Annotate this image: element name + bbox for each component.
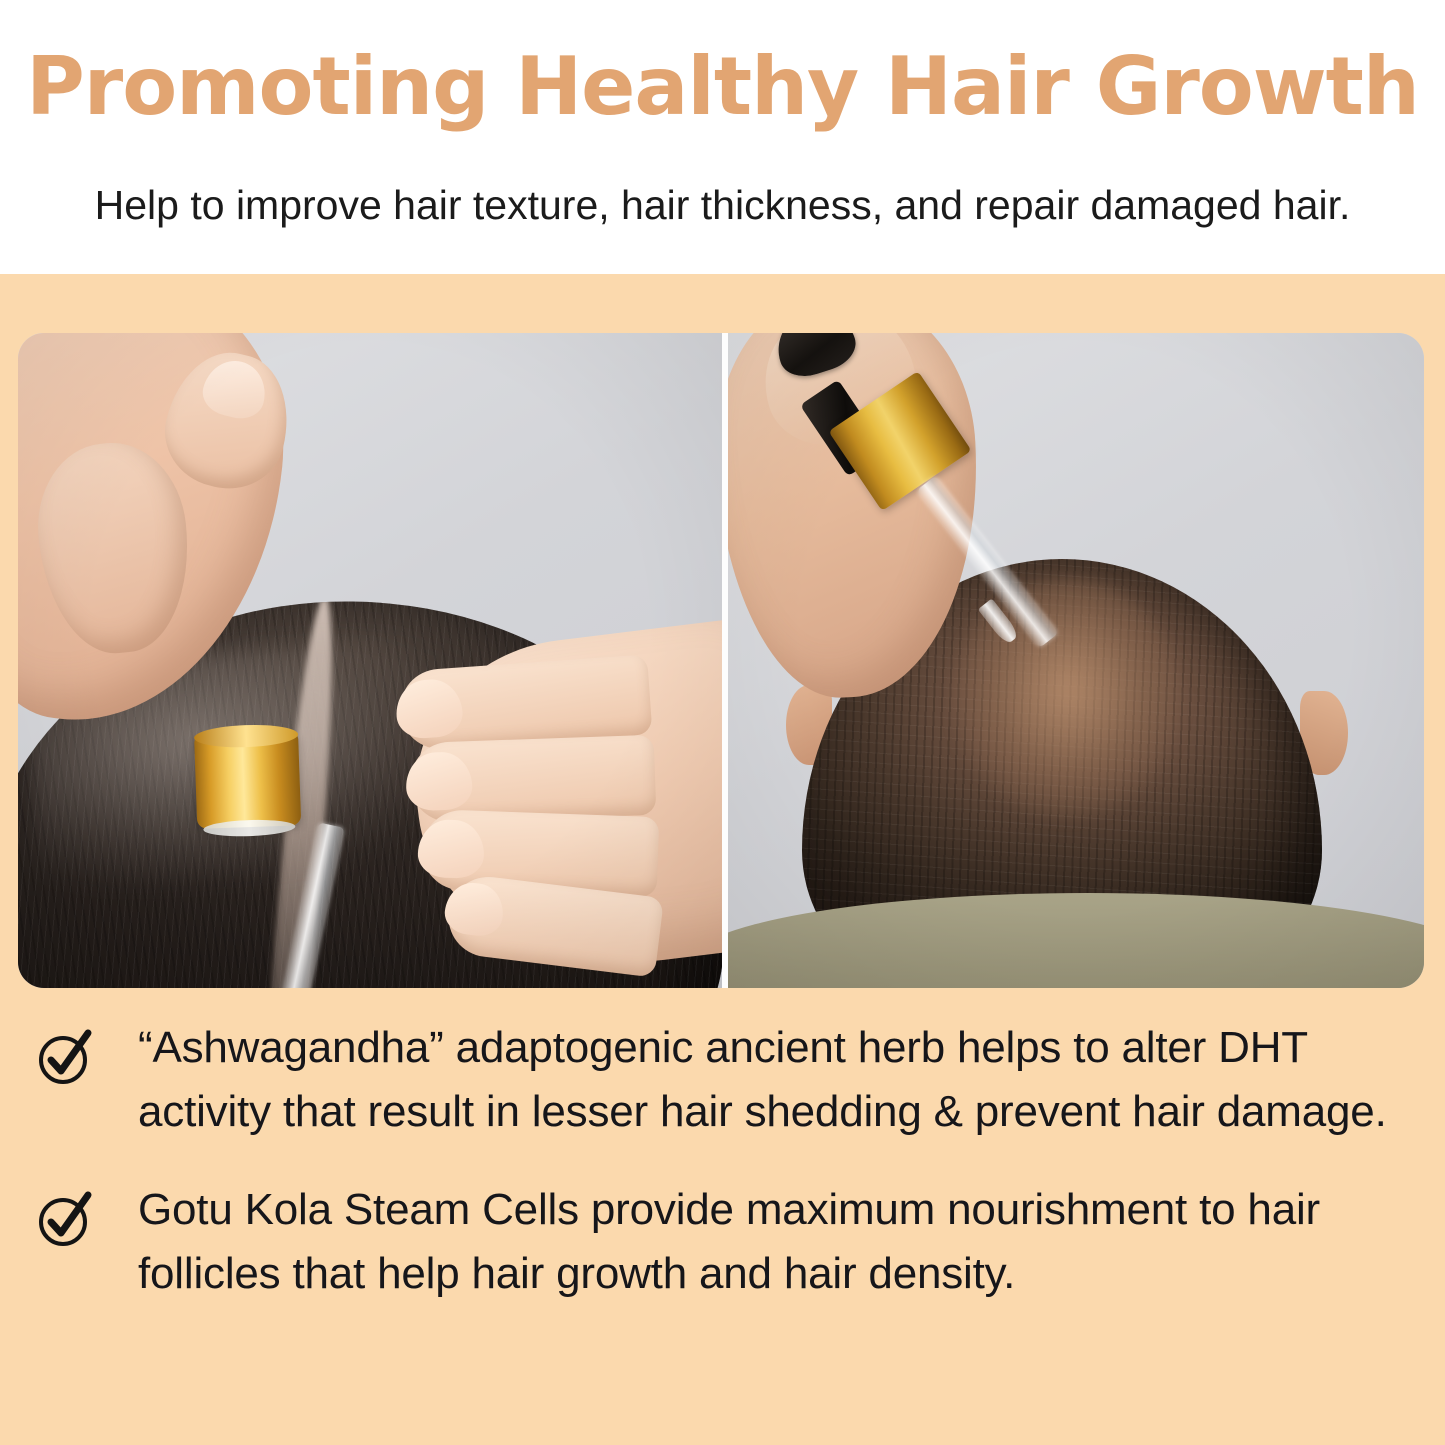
check-circle-icon — [36, 1192, 92, 1248]
header-band: Promoting Healthy Hair Growth Help to im… — [0, 0, 1445, 274]
finger-middle — [409, 735, 657, 824]
page-title: Promoting Healthy Hair Growth — [0, 44, 1445, 130]
product-infographic: Promoting Healthy Hair Growth Help to im… — [0, 0, 1445, 1445]
photo-gallery — [18, 333, 1424, 988]
benefit-item: Gotu Kola Steam Cells provide maximum no… — [0, 1178, 1445, 1306]
page-subtitle: Help to improve hair texture, hair thick… — [0, 180, 1445, 230]
benefits-list: “Ashwagandha” adaptogenic ancient herb h… — [0, 1016, 1445, 1340]
fingernail — [405, 751, 473, 811]
benefit-item: “Ashwagandha” adaptogenic ancient herb h… — [0, 1016, 1445, 1144]
fingernail — [417, 819, 485, 879]
benefit-text: “Ashwagandha” adaptogenic ancient herb h… — [138, 1016, 1389, 1144]
content-panel: “Ashwagandha” adaptogenic ancient herb h… — [0, 274, 1445, 1445]
dropper-gold-cap — [194, 733, 301, 829]
check-circle-icon — [36, 1030, 92, 1086]
photo-left — [18, 333, 722, 988]
benefit-text: Gotu Kola Steam Cells provide maximum no… — [138, 1178, 1389, 1306]
photo-right — [728, 333, 1424, 988]
